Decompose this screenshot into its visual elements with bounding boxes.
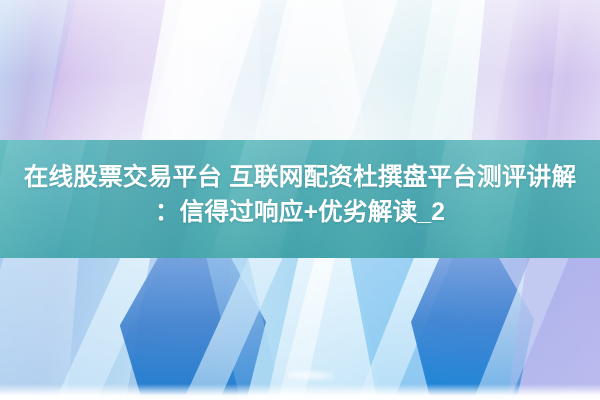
top-gloss-overlay — [0, 0, 600, 140]
facet-shape — [0, 258, 80, 400]
title-line-1: 在线股票交易平台 互联网配资杜撰盘平台测评讲解 — [6, 160, 594, 195]
watermark-artifact — [288, 368, 334, 382]
banner-image: 在线股票交易平台 互联网配资杜撰盘平台测评讲解 ：信得过响应+优劣解读_2 — [0, 0, 600, 400]
bottom-white-fade — [0, 384, 600, 400]
banner-title: 在线股票交易平台 互联网配资杜撰盘平台测评讲解 ：信得过响应+优劣解读_2 — [0, 160, 600, 230]
title-line-2: ：信得过响应+优劣解读_2 — [6, 195, 594, 230]
background-top-gradient — [0, 0, 600, 140]
